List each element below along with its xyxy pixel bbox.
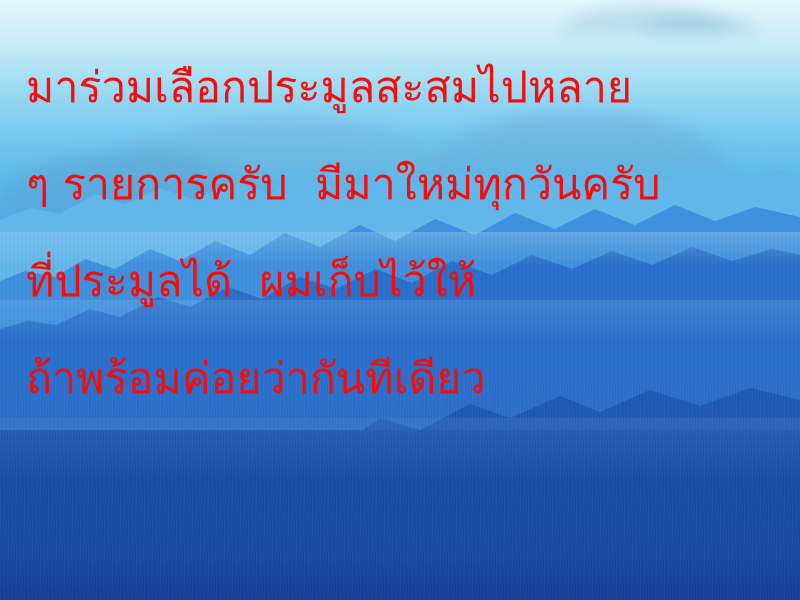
caption-line-4: ถ้าพร้อมค่อยว่ากันทีเดียว bbox=[26, 331, 800, 428]
banner-image: มาร่วมเลือกประมูลสะสมไปหลาย ๆ รายการครับ… bbox=[0, 0, 800, 600]
caption-overlay: มาร่วมเลือกประมูลสะสมไปหลาย ๆ รายการครับ… bbox=[0, 0, 800, 600]
caption-line-3: ที่ประมูลได้ ผมเก็บไว้ให้ bbox=[26, 234, 800, 331]
caption-line-2: ๆ รายการครับ มีมาใหม่ทุกวันครับ bbox=[26, 137, 800, 234]
caption-line-1: มาร่วมเลือกประมูลสะสมไปหลาย bbox=[26, 40, 800, 137]
